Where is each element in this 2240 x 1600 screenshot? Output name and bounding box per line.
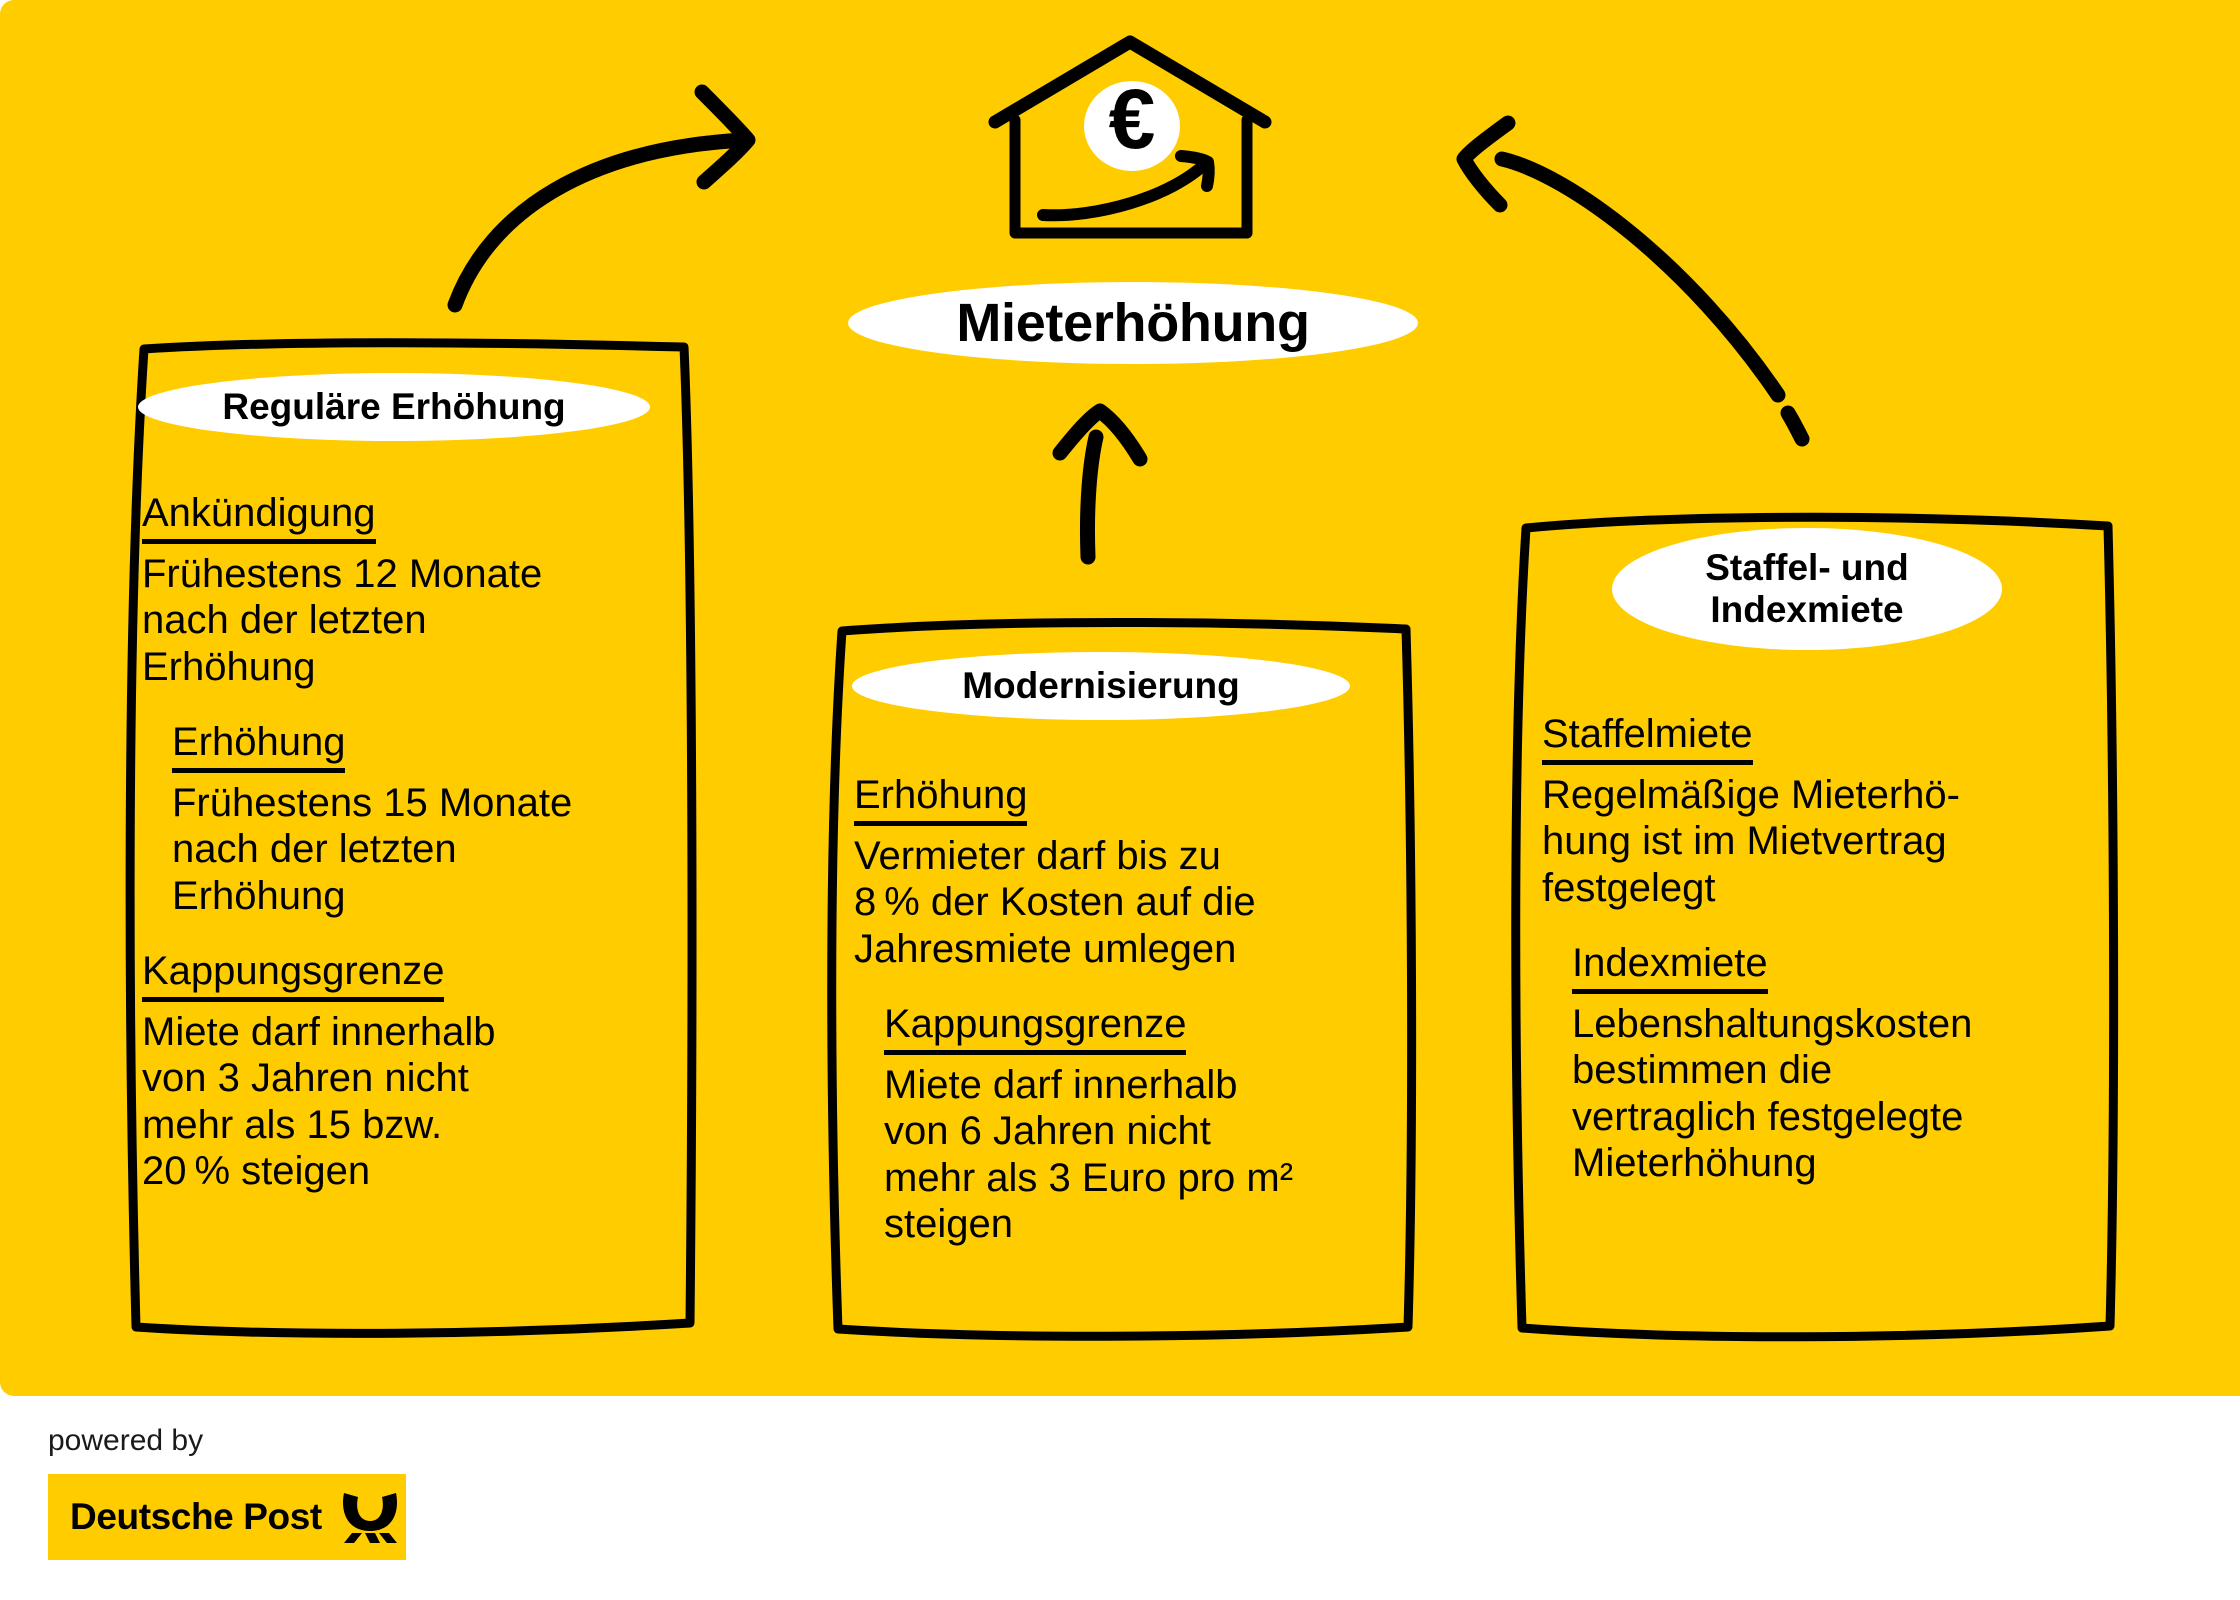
block-heading: Erhöhung xyxy=(172,720,345,773)
text-block: Erhöhung Frühestens 15 Monate nach der l… xyxy=(142,720,698,919)
text-block: Kappungsgrenze Miete darf innerhalb von … xyxy=(142,949,698,1194)
block-body: Frühestens 12 Monate nach der letzten Er… xyxy=(142,551,698,690)
card-body: Ankündigung Frühestens 12 Monate nach de… xyxy=(98,325,728,1224)
arrow-right-to-center-icon xyxy=(1440,95,1860,455)
page-title: Mieterhöhung xyxy=(956,292,1309,354)
block-body: Miete darf innerhalb von 3 Jahren nicht … xyxy=(142,1009,698,1195)
text-block: Kappungsgrenze Miete darf innerhalb von … xyxy=(854,1002,1418,1247)
block-body: Lebenshaltungskosten bestimmen die vertr… xyxy=(1572,1001,2118,1187)
powered-by-label: powered by xyxy=(48,1424,203,1458)
text-block: Ankündigung Frühestens 12 Monate nach de… xyxy=(142,491,698,690)
card-body: Erhöhung Vermieter darf bis zu 8 % der K… xyxy=(812,605,1442,1277)
block-body: Frühestens 15 Monate nach der letzten Er… xyxy=(172,780,698,919)
block-body: Miete darf innerhalb von 6 Jahren nicht … xyxy=(884,1062,1418,1248)
center-title-pill: Mieterhöhung xyxy=(848,282,1418,364)
arrow-left-to-center-icon xyxy=(430,70,850,330)
text-block: Indexmiete Lebenshaltungskosten bestimme… xyxy=(1542,941,2118,1186)
deutsche-post-logo[interactable]: Deutsche Post xyxy=(48,1474,406,1560)
block-heading: Erhöhung xyxy=(854,773,1027,826)
deutsche-post-wordmark: Deutsche Post xyxy=(70,1496,322,1538)
infographic-root: € Mieterhöhung xyxy=(0,0,2240,1600)
card-modernisierung[interactable]: Modernisierung Erhöhung Vermieter darf b… xyxy=(812,605,1442,1350)
block-heading: Kappungsgrenze xyxy=(884,1002,1186,1055)
euro-symbol: € xyxy=(1109,72,1156,166)
footer: powered by Deutsche Post xyxy=(0,1396,2240,1600)
yellow-stage: € Mieterhöhung xyxy=(0,0,2240,1396)
house-with-euro-icon: € xyxy=(985,30,1275,245)
block-body: Regelmäßige Mieterhö- hung ist im Mietve… xyxy=(1542,772,2118,911)
block-heading: Staffelmiete xyxy=(1542,712,1753,765)
block-body: Vermieter darf bis zu 8 % der Kosten auf… xyxy=(854,833,1418,972)
card-staffel-und-indexmiete[interactable]: Staffel- und Indexmiete Staffelmiete Reg… xyxy=(1500,500,2140,1350)
post-horn-icon xyxy=(338,1489,402,1545)
card-body: Staffelmiete Regelmäßige Mieterhö- hung … xyxy=(1500,500,2140,1216)
block-heading: Ankündigung xyxy=(142,491,376,544)
card-regulaere-erhoehung[interactable]: Reguläre Erhöhung Ankündigung Frühestens… xyxy=(98,325,728,1350)
text-block: Staffelmiete Regelmäßige Mieterhö- hung … xyxy=(1542,712,2118,911)
block-heading: Kappungsgrenze xyxy=(142,949,444,1002)
block-heading: Indexmiete xyxy=(1572,941,1768,994)
text-block: Erhöhung Vermieter darf bis zu 8 % der K… xyxy=(854,773,1418,972)
